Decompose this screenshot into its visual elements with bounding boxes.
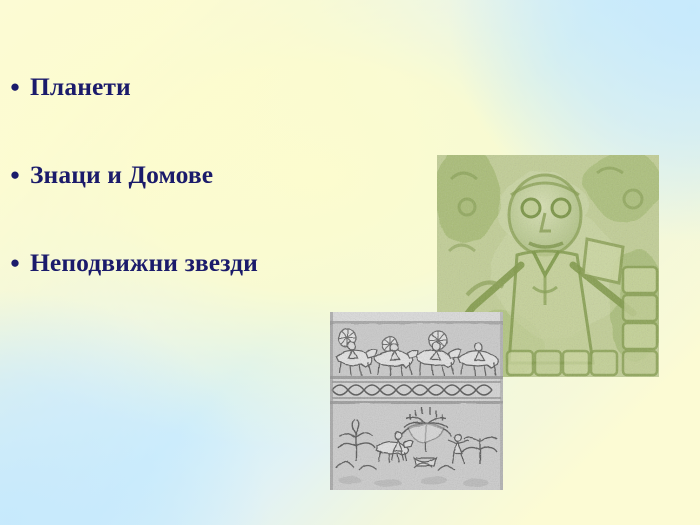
bullet-label-planets: Планети [30,72,131,102]
bullet-dot-icon: ● [0,254,30,271]
bullet-list: ● Планети ● Знаци и Домове ● Неподвижни … [0,72,420,336]
image-sarcophagus-relief [330,312,503,490]
bullet-dot-icon: ● [0,166,30,183]
slide-canvas: ● Планети ● Знаци и Домове ● Неподвижни … [0,0,700,525]
bullet-label-fixed-stars: Неподвижни звезди [30,248,258,278]
list-item: ● Знаци и Домове [0,160,420,248]
list-item: ● Планети [0,72,420,160]
bullet-dot-icon: ● [0,78,30,95]
sarcophagus-relief-artwork [330,312,503,490]
bullet-label-signs-and-houses: Знаци и Домове [30,160,213,190]
